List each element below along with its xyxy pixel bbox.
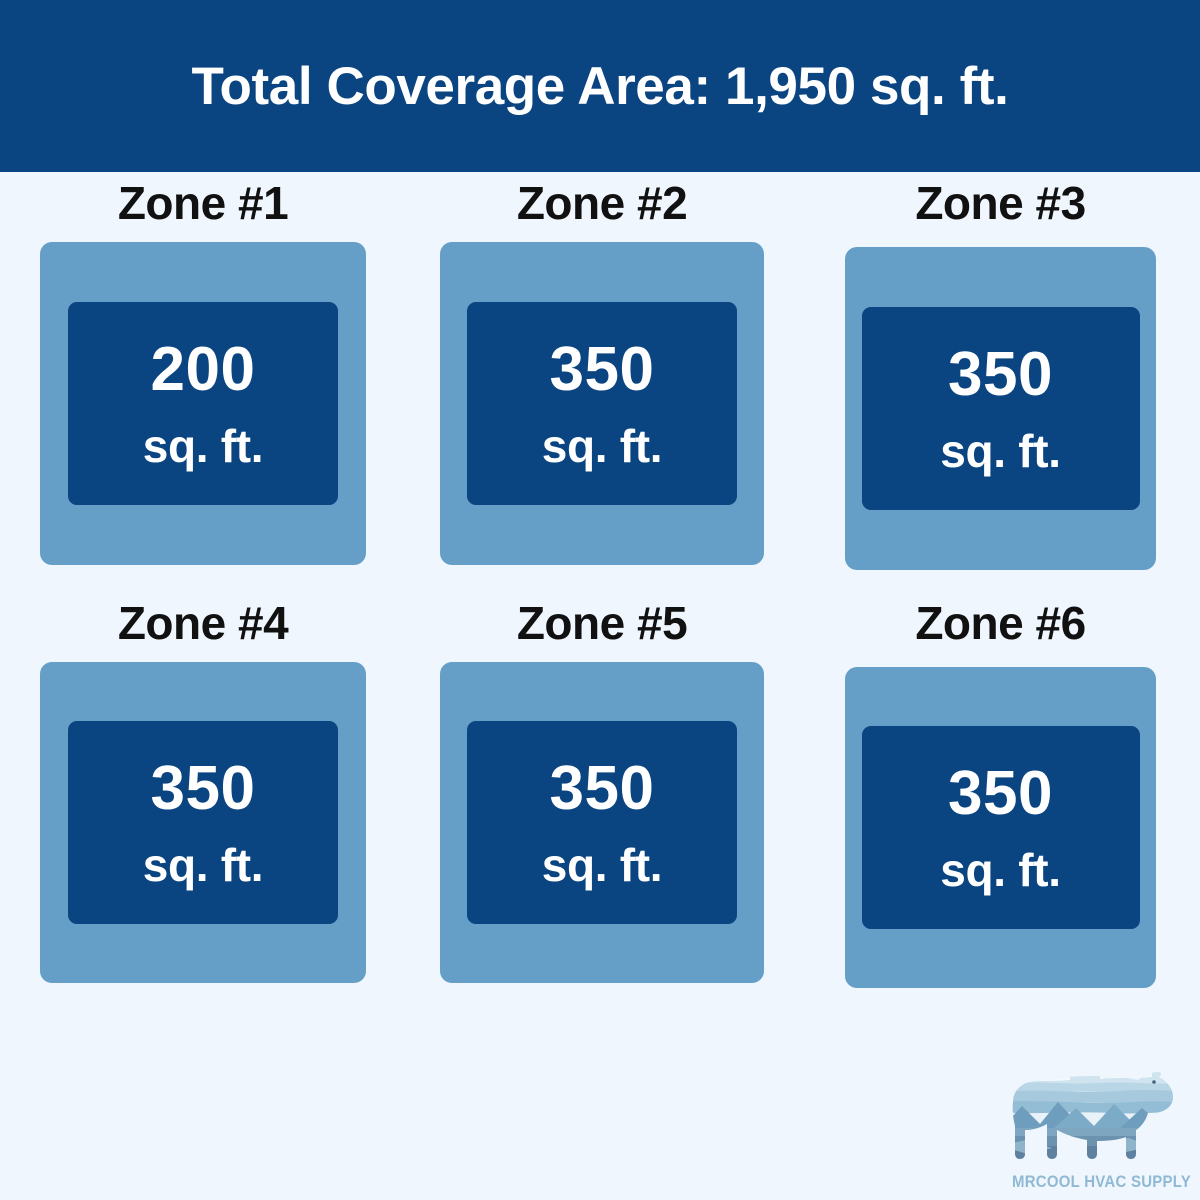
zone-card-4: 350 sq. ft. xyxy=(40,662,366,983)
zone-grid: Zone #1 200 sq. ft. Zone #2 350 sq. ft. … xyxy=(0,172,1200,1052)
zone-label-2: Zone #2 xyxy=(440,180,764,226)
zone-value-4: 350 xyxy=(151,758,256,820)
zone-card-3: 350 sq. ft. xyxy=(845,247,1156,570)
zone-cell-6: Zone #6 350 sq. ft. xyxy=(845,600,1156,988)
zone-value-3: 350 xyxy=(948,344,1053,406)
zone-value-panel-2: 350 sq. ft. xyxy=(467,302,737,505)
brand-logo: MRCOOL HVAC SUPPLY xyxy=(1000,1058,1200,1198)
page-title: Total Coverage Area: 1,950 sq. ft. xyxy=(191,56,1008,117)
zone-value-panel-6: 350 sq. ft. xyxy=(862,726,1140,929)
zone-value-2: 350 xyxy=(550,339,655,401)
zone-value-6: 350 xyxy=(948,763,1053,825)
zone-cell-4: Zone #4 350 sq. ft. xyxy=(40,600,366,983)
polar-bear-logo-icon xyxy=(1000,1058,1200,1170)
infographic-root: { "header": { "title": "Total Coverage A… xyxy=(0,0,1200,1200)
zone-card-1: 200 sq. ft. xyxy=(40,242,366,565)
zone-cell-3: Zone #3 350 sq. ft. xyxy=(845,180,1156,570)
bear-eye-icon xyxy=(1152,1080,1156,1084)
zone-card-2: 350 sq. ft. xyxy=(440,242,764,565)
zone-value-panel-4: 350 sq. ft. xyxy=(68,721,338,924)
zone-value-panel-5: 350 sq. ft. xyxy=(467,721,737,924)
zone-cell-5: Zone #5 350 sq. ft. xyxy=(440,600,764,983)
zone-label-5: Zone #5 xyxy=(440,600,764,646)
zone-unit-3: sq. ft. xyxy=(940,428,1061,474)
zone-cell-2: Zone #2 350 sq. ft. xyxy=(440,180,764,565)
zone-value-panel-3: 350 sq. ft. xyxy=(862,307,1140,510)
zone-unit-5: sq. ft. xyxy=(542,842,663,888)
logo-wordmark: MRCOOL HVAC SUPPLY xyxy=(1012,1172,1188,1192)
zone-value-1: 200 xyxy=(151,339,256,401)
zone-label-3: Zone #3 xyxy=(845,180,1156,226)
zone-label-6: Zone #6 xyxy=(845,600,1156,646)
zone-value-panel-1: 200 sq. ft. xyxy=(68,302,338,505)
zone-card-5: 350 sq. ft. xyxy=(440,662,764,983)
zone-unit-6: sq. ft. xyxy=(940,847,1061,893)
zone-cell-1: Zone #1 200 sq. ft. xyxy=(40,180,366,565)
zone-value-5: 350 xyxy=(550,758,655,820)
zone-unit-2: sq. ft. xyxy=(542,423,663,469)
header-band: Total Coverage Area: 1,950 sq. ft. xyxy=(0,0,1200,172)
zone-label-4: Zone #4 xyxy=(40,600,366,646)
zone-unit-1: sq. ft. xyxy=(143,423,264,469)
zone-card-6: 350 sq. ft. xyxy=(845,667,1156,988)
bear-landscape-fill xyxy=(1000,1058,1200,1170)
zone-unit-4: sq. ft. xyxy=(143,842,264,888)
zone-label-1: Zone #1 xyxy=(40,180,366,226)
